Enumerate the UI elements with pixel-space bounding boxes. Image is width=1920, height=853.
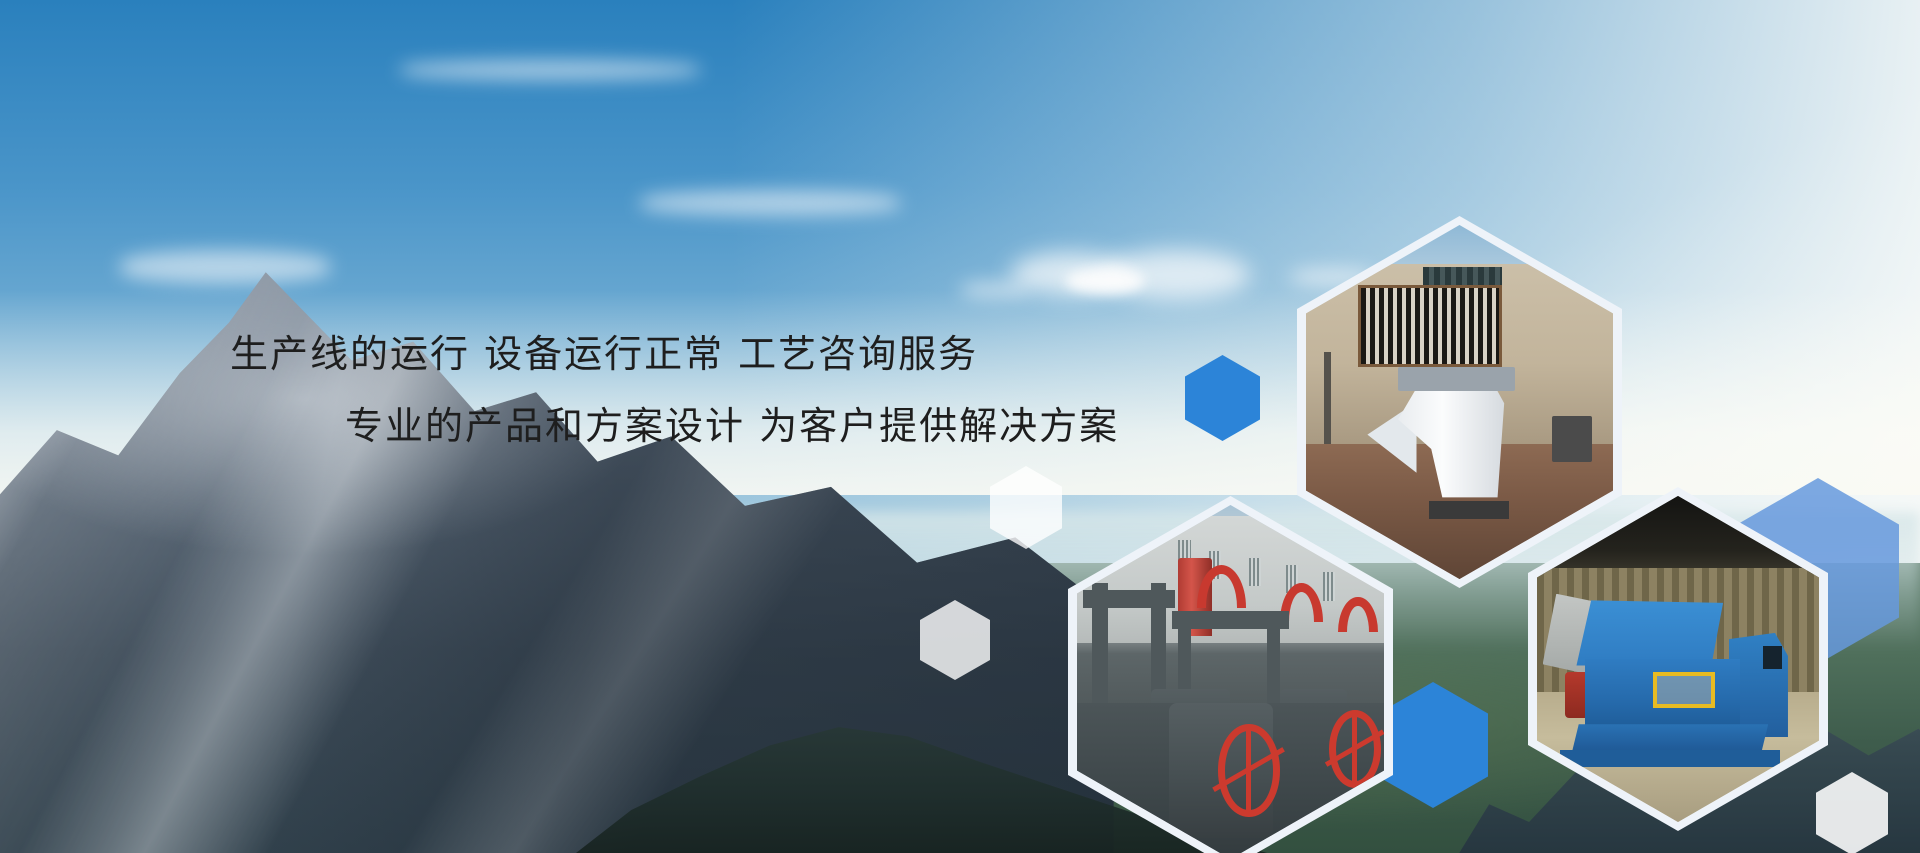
hero-banner: 生产线的运行 设备运行正常 工艺咨询服务 专业的产品和方案设计 为客户提供解决方…: [0, 0, 1920, 853]
cloud-wisp-5: [400, 60, 700, 80]
cloud-3: [1065, 268, 1145, 294]
cloud-wisp-4: [640, 190, 900, 216]
hex-photo-right-image: [1537, 496, 1819, 822]
headline-line-1: 生产线的运行 设备运行正常 工艺咨询服务: [0, 318, 1160, 390]
cloud-wisp-1: [120, 250, 330, 284]
hex-photo-top-image: [1306, 225, 1613, 579]
headline-line-2: 专业的产品和方案设计 为客户提供解决方案: [0, 390, 1160, 462]
headline-block: 生产线的运行 设备运行正常 工艺咨询服务 专业的产品和方案设计 为客户提供解决方…: [0, 318, 1160, 462]
cloud-wisp-2: [960, 282, 1030, 298]
